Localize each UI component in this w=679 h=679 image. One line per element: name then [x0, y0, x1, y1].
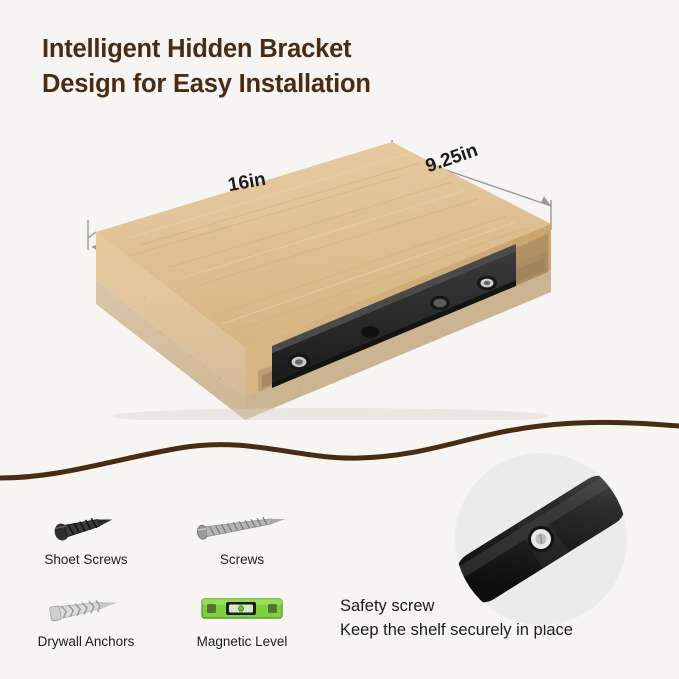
long-screw-icon [172, 504, 312, 548]
title-line-1: Intelligent Hidden Bracket [42, 32, 602, 67]
accessory-label: Shoet Screws [16, 552, 156, 567]
accessory-screws: Screws [172, 504, 312, 567]
accessory-magnetic-level: Magnetic Level [172, 586, 312, 649]
accessories-section: Shoet Screws [0, 480, 679, 679]
title-line-2: Design for Easy Installation [42, 67, 602, 102]
shelf-illustration [0, 120, 679, 420]
accessory-shoet-screws: Shoet Screws [16, 504, 156, 567]
page-title: Intelligent Hidden Bracket Design for Ea… [42, 32, 602, 102]
accessory-label: Screws [172, 552, 312, 567]
magnetic-level-icon [172, 586, 312, 630]
accessory-label: Magnetic Level [172, 634, 312, 649]
hero-product-image: 16in 9.25in [0, 120, 679, 420]
accessory-drywall-anchors: Drywall Anchors [16, 586, 156, 649]
drywall-anchor-icon [16, 586, 156, 630]
bracket-closeup-icon [455, 453, 627, 625]
accessory-label: Drywall Anchors [16, 634, 156, 649]
short-screw-icon [16, 504, 156, 548]
